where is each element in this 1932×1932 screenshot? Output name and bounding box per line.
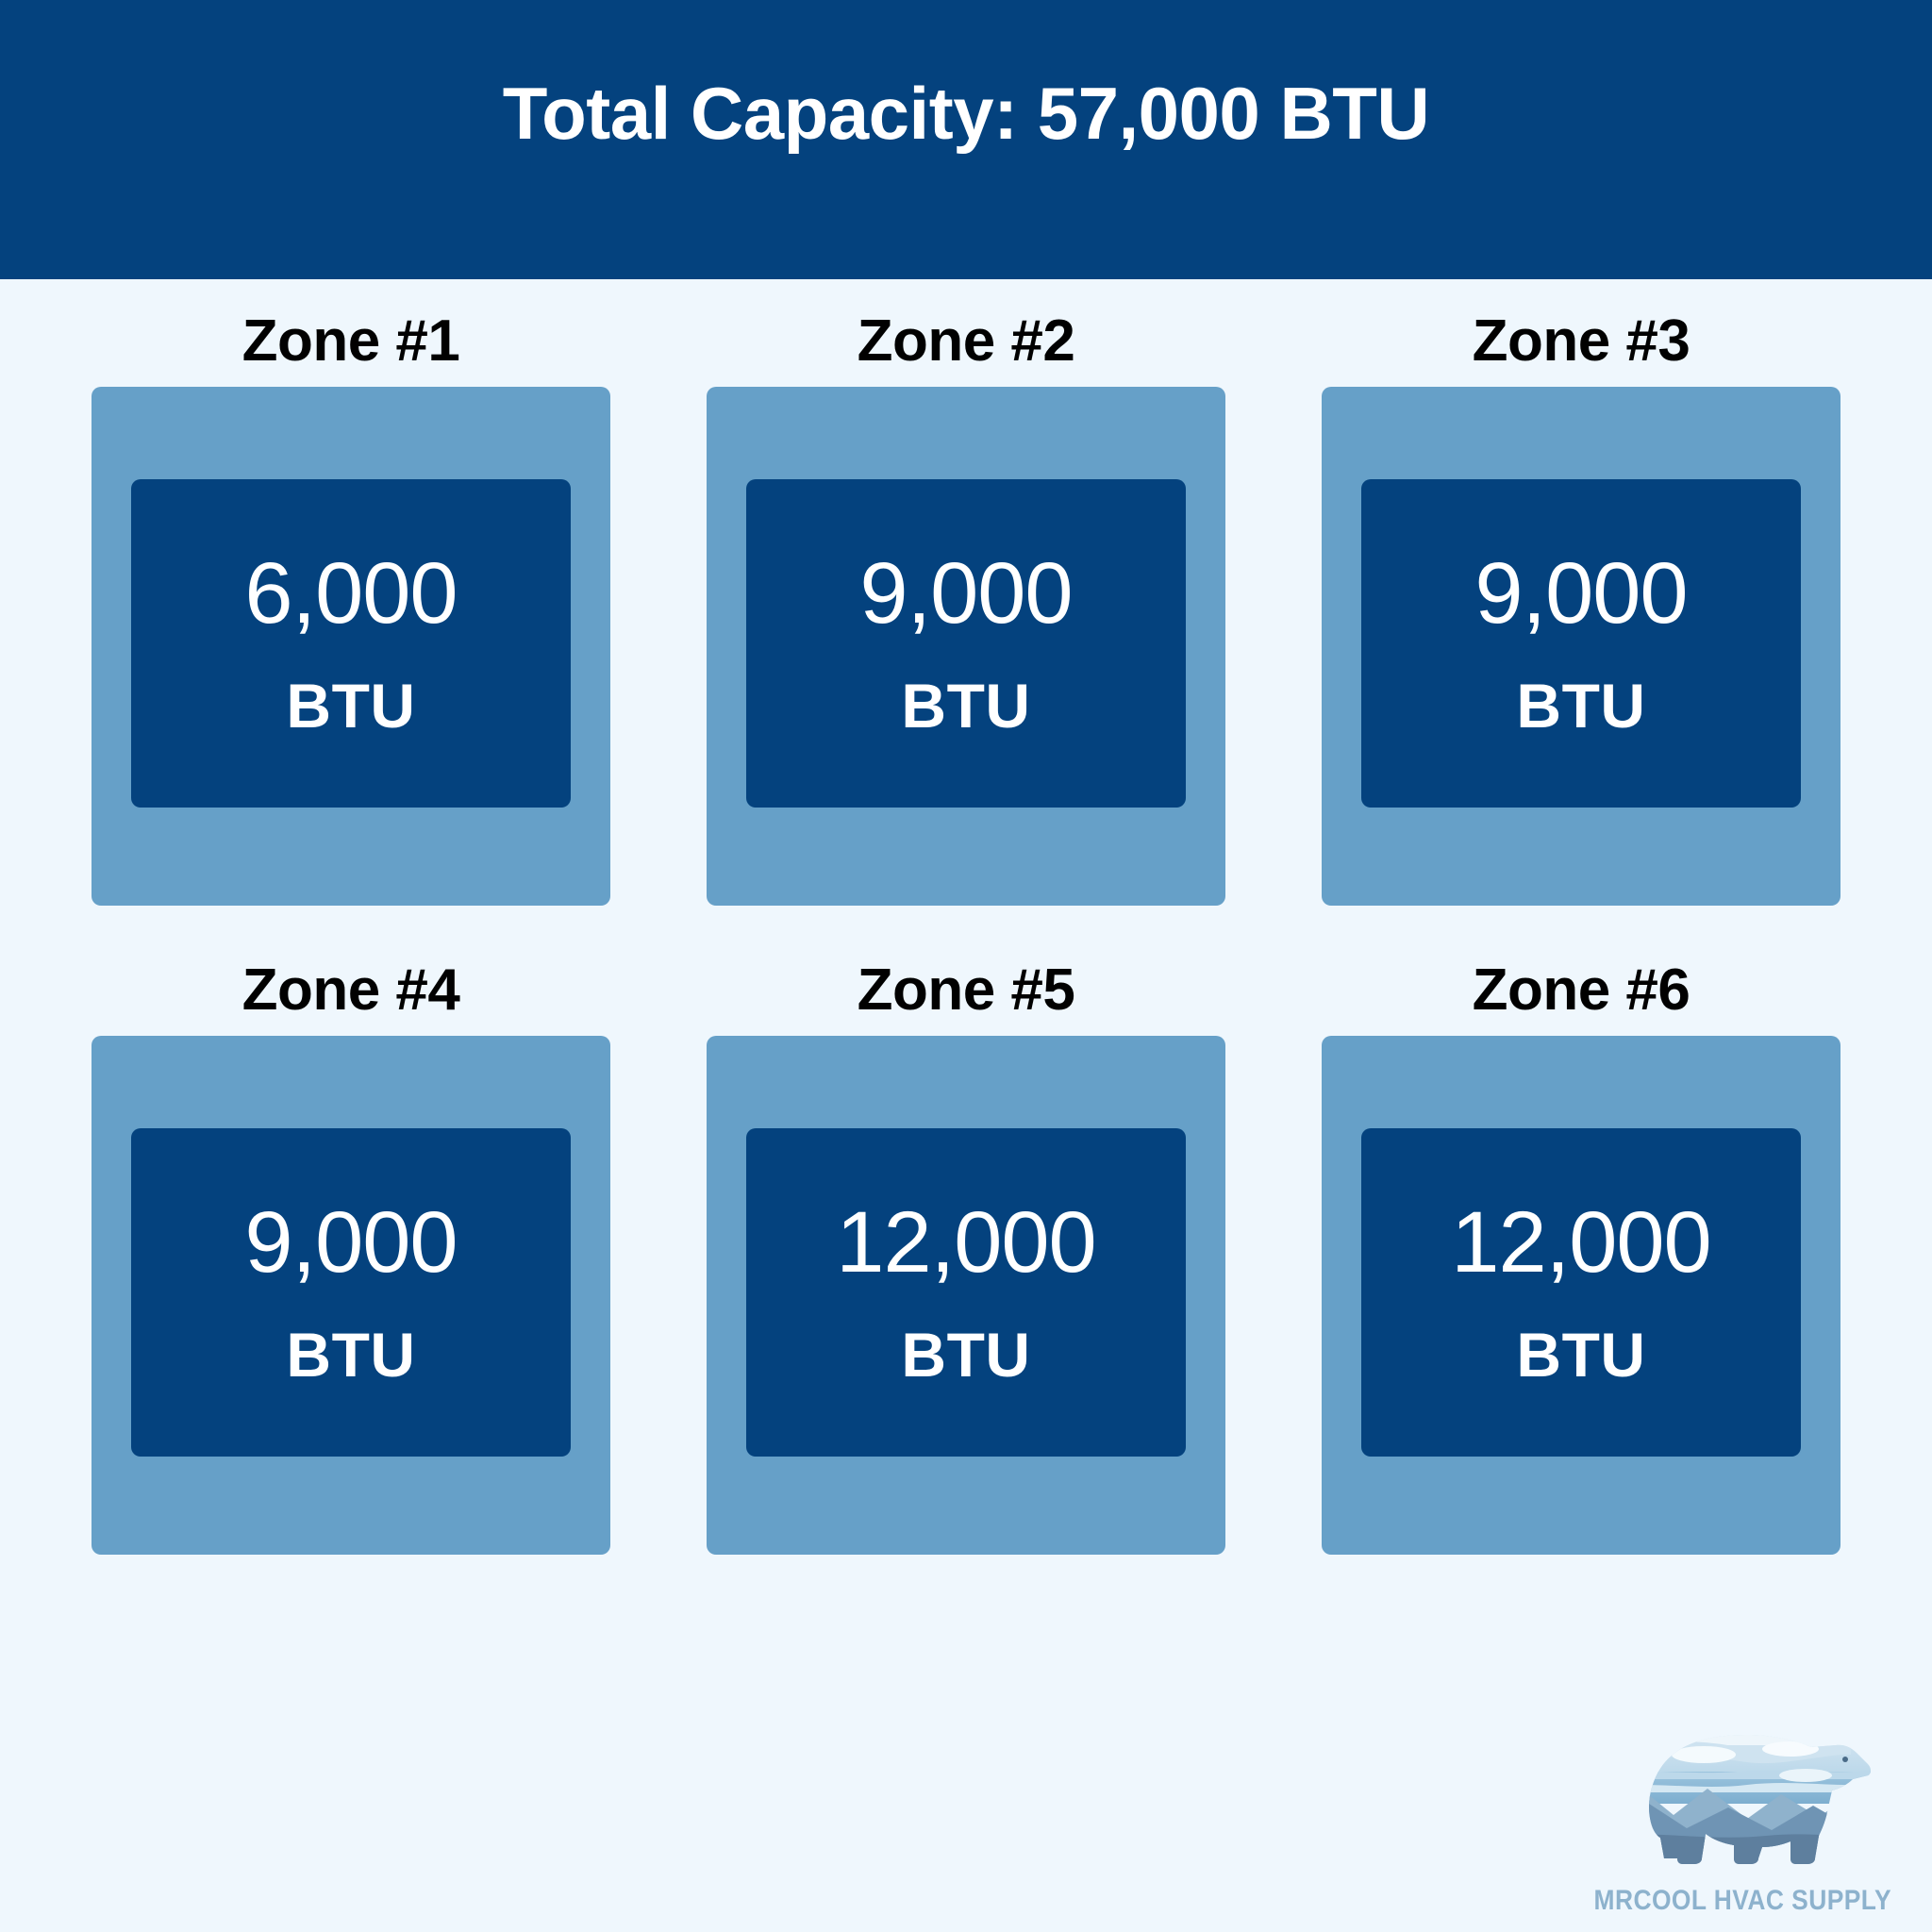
zone-capacity-value: 6,000 (244, 550, 457, 637)
zone-capacity-unit: BTU (1516, 1324, 1645, 1386)
zone-cell-6: Zone #6 12,000 BTU (1274, 928, 1889, 1555)
zone-card-inner: 12,000 BTU (746, 1128, 1186, 1457)
zone-capacity-unit: BTU (901, 675, 1030, 737)
zone-grid: Zone #1 6,000 BTU Zone #2 9,000 BTU Zone… (0, 279, 1932, 1555)
zone-card-inner: 9,000 BTU (746, 479, 1186, 808)
polar-bear-icon (1606, 1717, 1879, 1885)
zone-capacity-unit: BTU (286, 675, 415, 737)
brand-name: MRCOOL HVAC SUPPLY (1593, 1887, 1890, 1915)
zone-capacity-unit: BTU (286, 1324, 415, 1386)
zone-label: Zone #4 (242, 928, 460, 1036)
zone-capacity-unit: BTU (901, 1324, 1030, 1386)
zone-capacity-value: 9,000 (1474, 550, 1687, 637)
zone-capacity-value: 12,000 (836, 1199, 1095, 1286)
page-title: Total Capacity: 57,000 BTU (503, 76, 1430, 150)
zone-capacity-value: 12,000 (1451, 1199, 1710, 1286)
zone-label: Zone #6 (1473, 928, 1690, 1036)
zone-cell-4: Zone #4 9,000 BTU (43, 928, 658, 1555)
zone-capacity-unit: BTU (1516, 675, 1645, 737)
zone-cell-1: Zone #1 6,000 BTU (43, 279, 658, 906)
zone-cell-5: Zone #5 12,000 BTU (658, 928, 1274, 1555)
zone-label: Zone #2 (858, 279, 1075, 387)
zone-label: Zone #3 (1473, 279, 1690, 387)
zone-card-outer: 6,000 BTU (92, 387, 610, 906)
zone-capacity-value: 9,000 (244, 1199, 457, 1286)
zone-card-inner: 12,000 BTU (1361, 1128, 1801, 1457)
zone-card-inner: 9,000 BTU (1361, 479, 1801, 808)
zone-card-outer: 12,000 BTU (1322, 1036, 1840, 1555)
zone-card-outer: 12,000 BTU (707, 1036, 1225, 1555)
zone-label: Zone #1 (242, 279, 460, 387)
brand-logo: MRCOOL HVAC SUPPLY (1587, 1717, 1898, 1915)
zone-card-outer: 9,000 BTU (92, 1036, 610, 1555)
zone-cell-2: Zone #2 9,000 BTU (658, 279, 1274, 906)
zone-card-inner: 9,000 BTU (131, 1128, 571, 1457)
zone-cell-3: Zone #3 9,000 BTU (1274, 279, 1889, 906)
zone-label: Zone #5 (858, 928, 1075, 1036)
zone-capacity-value: 9,000 (859, 550, 1072, 637)
zone-card-outer: 9,000 BTU (1322, 387, 1840, 906)
zone-card-inner: 6,000 BTU (131, 479, 571, 808)
zone-card-outer: 9,000 BTU (707, 387, 1225, 906)
header-banner: Total Capacity: 57,000 BTU (0, 0, 1932, 279)
